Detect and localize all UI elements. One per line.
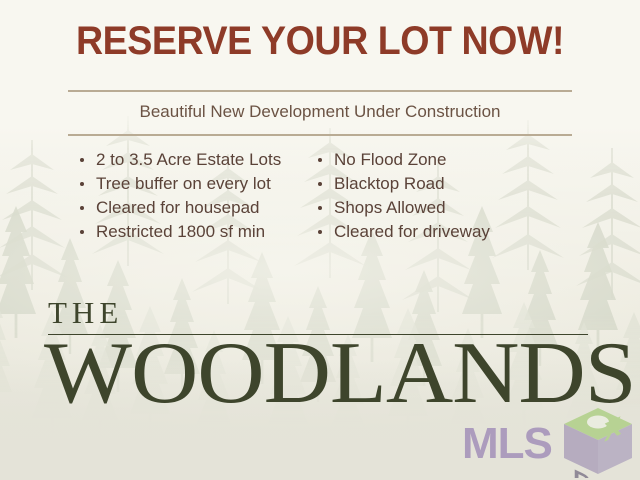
feature-column-right: No Flood Zone Blacktop Road Shops Allowe… — [290, 148, 640, 244]
feature-list-left: 2 to 3.5 Acre Estate Lots Tree buffer on… — [76, 148, 290, 244]
subtitle: Beautiful New Development Under Construc… — [0, 99, 640, 125]
list-item: Cleared for housepad — [76, 196, 290, 220]
list-item: Tree buffer on every lot — [76, 172, 290, 196]
page-title: RESERVE YOUR LOT NOW! — [19, 18, 621, 64]
watermark-brand-text: MLS — [462, 419, 552, 468]
list-item: No Flood Zone — [314, 148, 640, 172]
feature-column-left: 2 to 3.5 Acre Estate Lots Tree buffer on… — [0, 148, 290, 244]
woodlands-logo: THE WOODLANDS — [0, 296, 640, 416]
box-cube-icon: B X — [564, 408, 632, 478]
list-item: Blacktop Road — [314, 172, 640, 196]
list-item: Cleared for driveway — [314, 220, 640, 244]
feature-lists: 2 to 3.5 Acre Estate Lots Tree buffer on… — [0, 148, 640, 244]
real-estate-advertisement: RESERVE YOUR LOT NOW! Beautiful New Deve… — [0, 0, 640, 480]
mlsbox-watermark: MLS B X — [458, 402, 636, 478]
divider-bottom — [68, 134, 572, 136]
list-item: Shops Allowed — [314, 196, 640, 220]
feature-list-right: No Flood Zone Blacktop Road Shops Allowe… — [314, 148, 640, 244]
list-item: Restricted 1800 sf min — [76, 220, 290, 244]
divider-top — [68, 90, 572, 92]
list-item: 2 to 3.5 Acre Estate Lots — [76, 148, 290, 172]
